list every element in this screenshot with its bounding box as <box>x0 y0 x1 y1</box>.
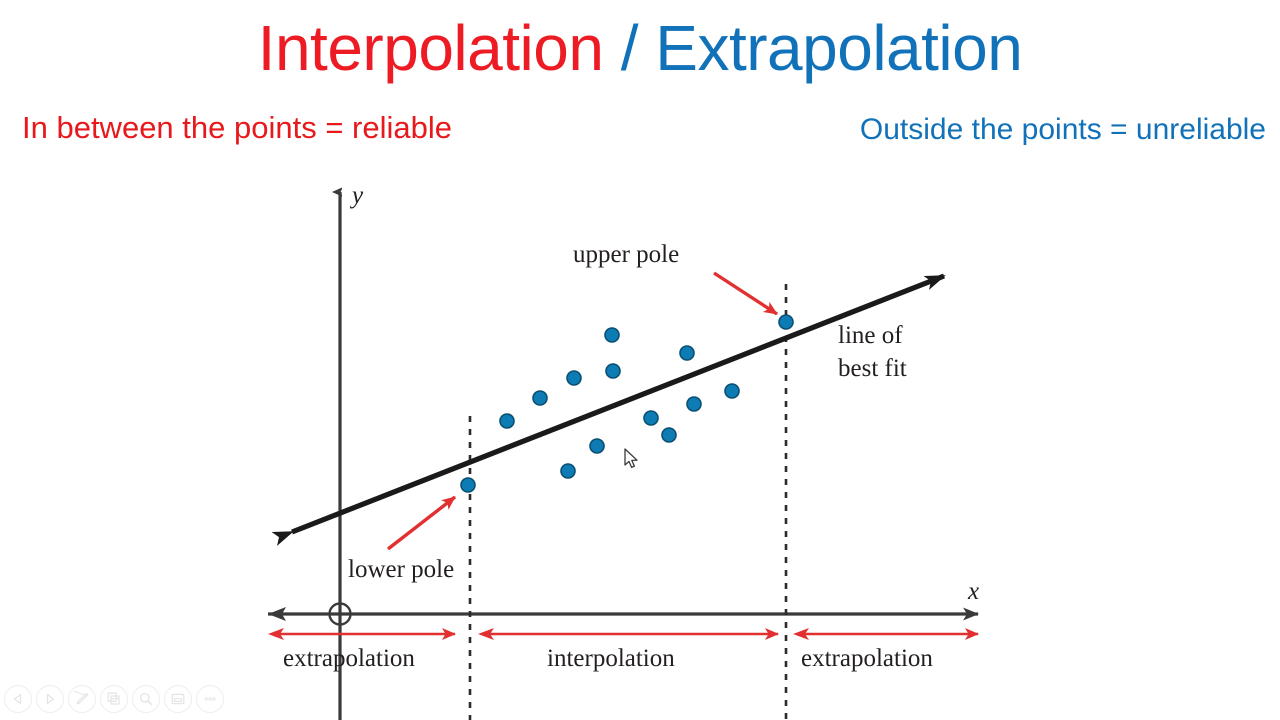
screen-icon <box>170 691 186 707</box>
diagram-svg <box>0 0 1280 720</box>
region-extrapolation-left-arrow <box>268 628 455 640</box>
y-axis-label: y <box>352 182 363 210</box>
region-label-extrapolation-left: extrapolation <box>283 645 415 673</box>
data-point <box>606 364 620 378</box>
pen-tool-button[interactable] <box>68 685 96 713</box>
slides-grid-icon <box>106 691 122 707</box>
data-point <box>605 328 619 342</box>
line-of-best-fit-label-line1: line of <box>838 322 903 350</box>
x-axis-label: x <box>968 578 979 606</box>
data-point <box>461 478 475 492</box>
all-slides-button[interactable] <box>100 685 128 713</box>
zoom-button[interactable] <box>132 685 160 713</box>
region-extrapolation-right-arrow <box>793 628 978 640</box>
data-point <box>500 414 514 428</box>
presentation-toolbar[interactable] <box>4 682 224 716</box>
mouse-cursor <box>624 448 642 472</box>
region-label-interpolation: interpolation <box>547 645 675 673</box>
data-point <box>567 371 581 385</box>
line-of-best-fit-label-line2: best fit <box>838 355 907 383</box>
data-point <box>533 391 547 405</box>
triangle-right-icon <box>43 692 57 706</box>
pen-icon <box>74 691 90 707</box>
data-point <box>662 428 676 442</box>
region-label-extrapolation-right: extrapolation <box>801 645 933 673</box>
upper-pole-data-point <box>779 315 793 329</box>
lower-pole-arrow <box>388 497 455 549</box>
data-point <box>725 384 739 398</box>
data-point <box>687 397 701 411</box>
data-point <box>680 346 694 360</box>
data-point <box>644 411 658 425</box>
next-slide-button[interactable] <box>36 685 64 713</box>
upper-pole-label: upper pole <box>573 241 679 269</box>
previous-slide-button[interactable] <box>4 685 32 713</box>
x-axis <box>268 607 978 621</box>
data-point <box>561 464 575 478</box>
data-point <box>590 439 604 453</box>
line-of-best-fit <box>292 276 944 532</box>
region-interpolation-arrow <box>478 628 778 640</box>
magnifier-icon <box>138 691 154 707</box>
triangle-left-icon <box>11 692 25 706</box>
slide-canvas: Interpolation / Extrapolation In between… <box>0 0 1280 720</box>
upper-pole-arrow <box>714 273 777 314</box>
ellipsis-icon <box>202 691 218 707</box>
lower-pole-label: lower pole <box>348 556 454 584</box>
more-options-button[interactable] <box>196 685 224 713</box>
interpolation-extrapolation-diagram: y x upper pole lower pole line of best f… <box>0 0 1280 720</box>
present-screen-button[interactable] <box>164 685 192 713</box>
